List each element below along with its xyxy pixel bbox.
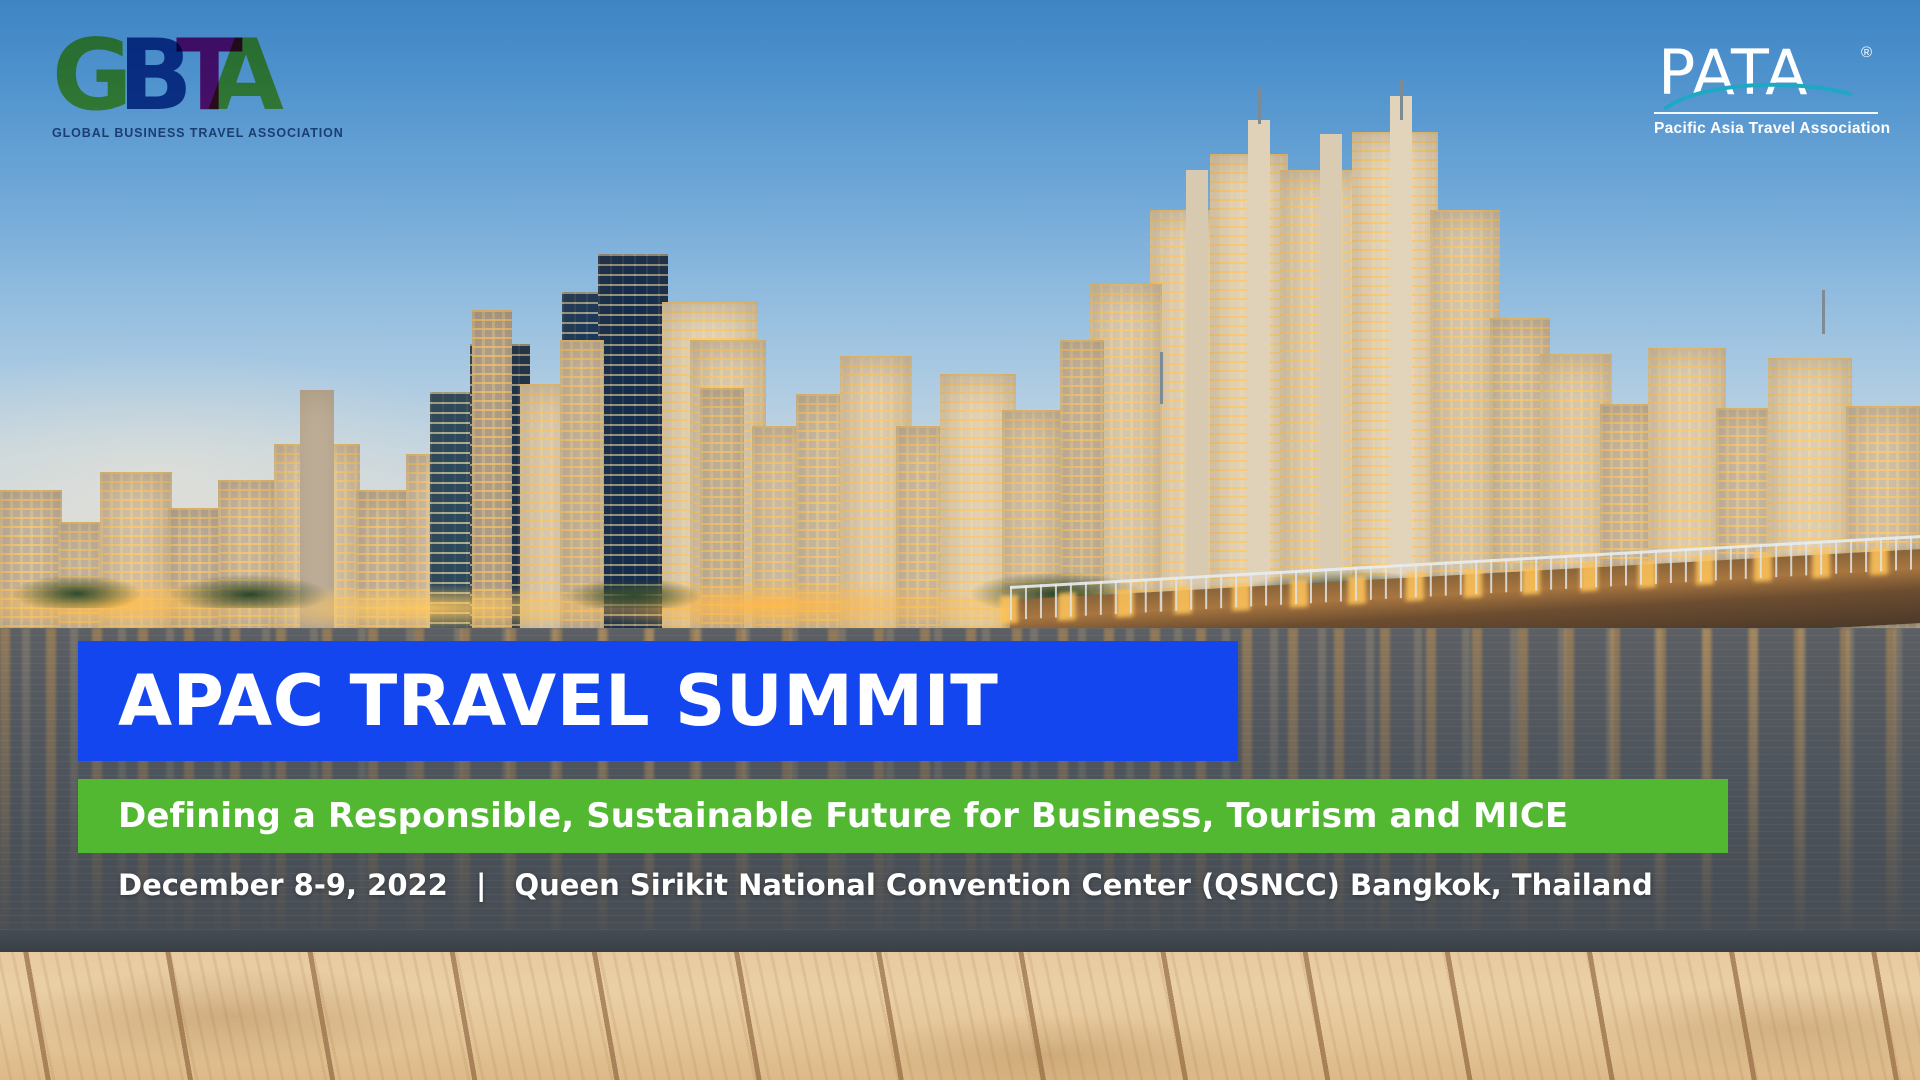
event-dates: December 8-9, 2022 [118, 868, 448, 902]
meta-separator: | [448, 868, 515, 902]
pata-wordmark: PATA ® [1658, 40, 1868, 106]
event-venue: Queen Sirikit National Convention Center… [514, 868, 1652, 902]
deck-wood-grain [0, 952, 1920, 1080]
wooden-deck [0, 952, 1920, 1080]
event-subtitle: Defining a Responsible, Sustainable Futu… [78, 796, 1568, 836]
gbta-wordmark: G B T A [40, 38, 310, 122]
event-title-block: APAC TRAVEL SUMMIT [78, 641, 1238, 761]
event-banner: G B T A GLOBAL BUSINESS TRAVEL ASSOCIATI… [0, 0, 1920, 1080]
event-meta-row: December 8-9, 2022 | Queen Sirikit Natio… [118, 868, 1653, 902]
pata-logo[interactable]: PATA ® Pacific Asia Travel Association [1652, 40, 1882, 152]
event-subtitle-block: Defining a Responsible, Sustainable Futu… [78, 779, 1728, 853]
gbta-letter-g: G [52, 34, 128, 118]
deck-edge-shadow [0, 930, 1920, 954]
registered-trademark-icon: ® [1861, 44, 1872, 61]
pata-tagline: Pacific Asia Travel Association [1654, 120, 1890, 138]
event-title: APAC TRAVEL SUMMIT [78, 660, 998, 742]
pata-divider-line [1654, 112, 1878, 114]
gbta-letter-a: A [208, 34, 280, 118]
pata-wordmark-text: PATA [1658, 36, 1809, 109]
gbta-logo[interactable]: G B T A GLOBAL BUSINESS TRAVEL ASSOCIATI… [40, 38, 310, 148]
gbta-tagline: GLOBAL BUSINESS TRAVEL ASSOCIATION [52, 126, 344, 140]
